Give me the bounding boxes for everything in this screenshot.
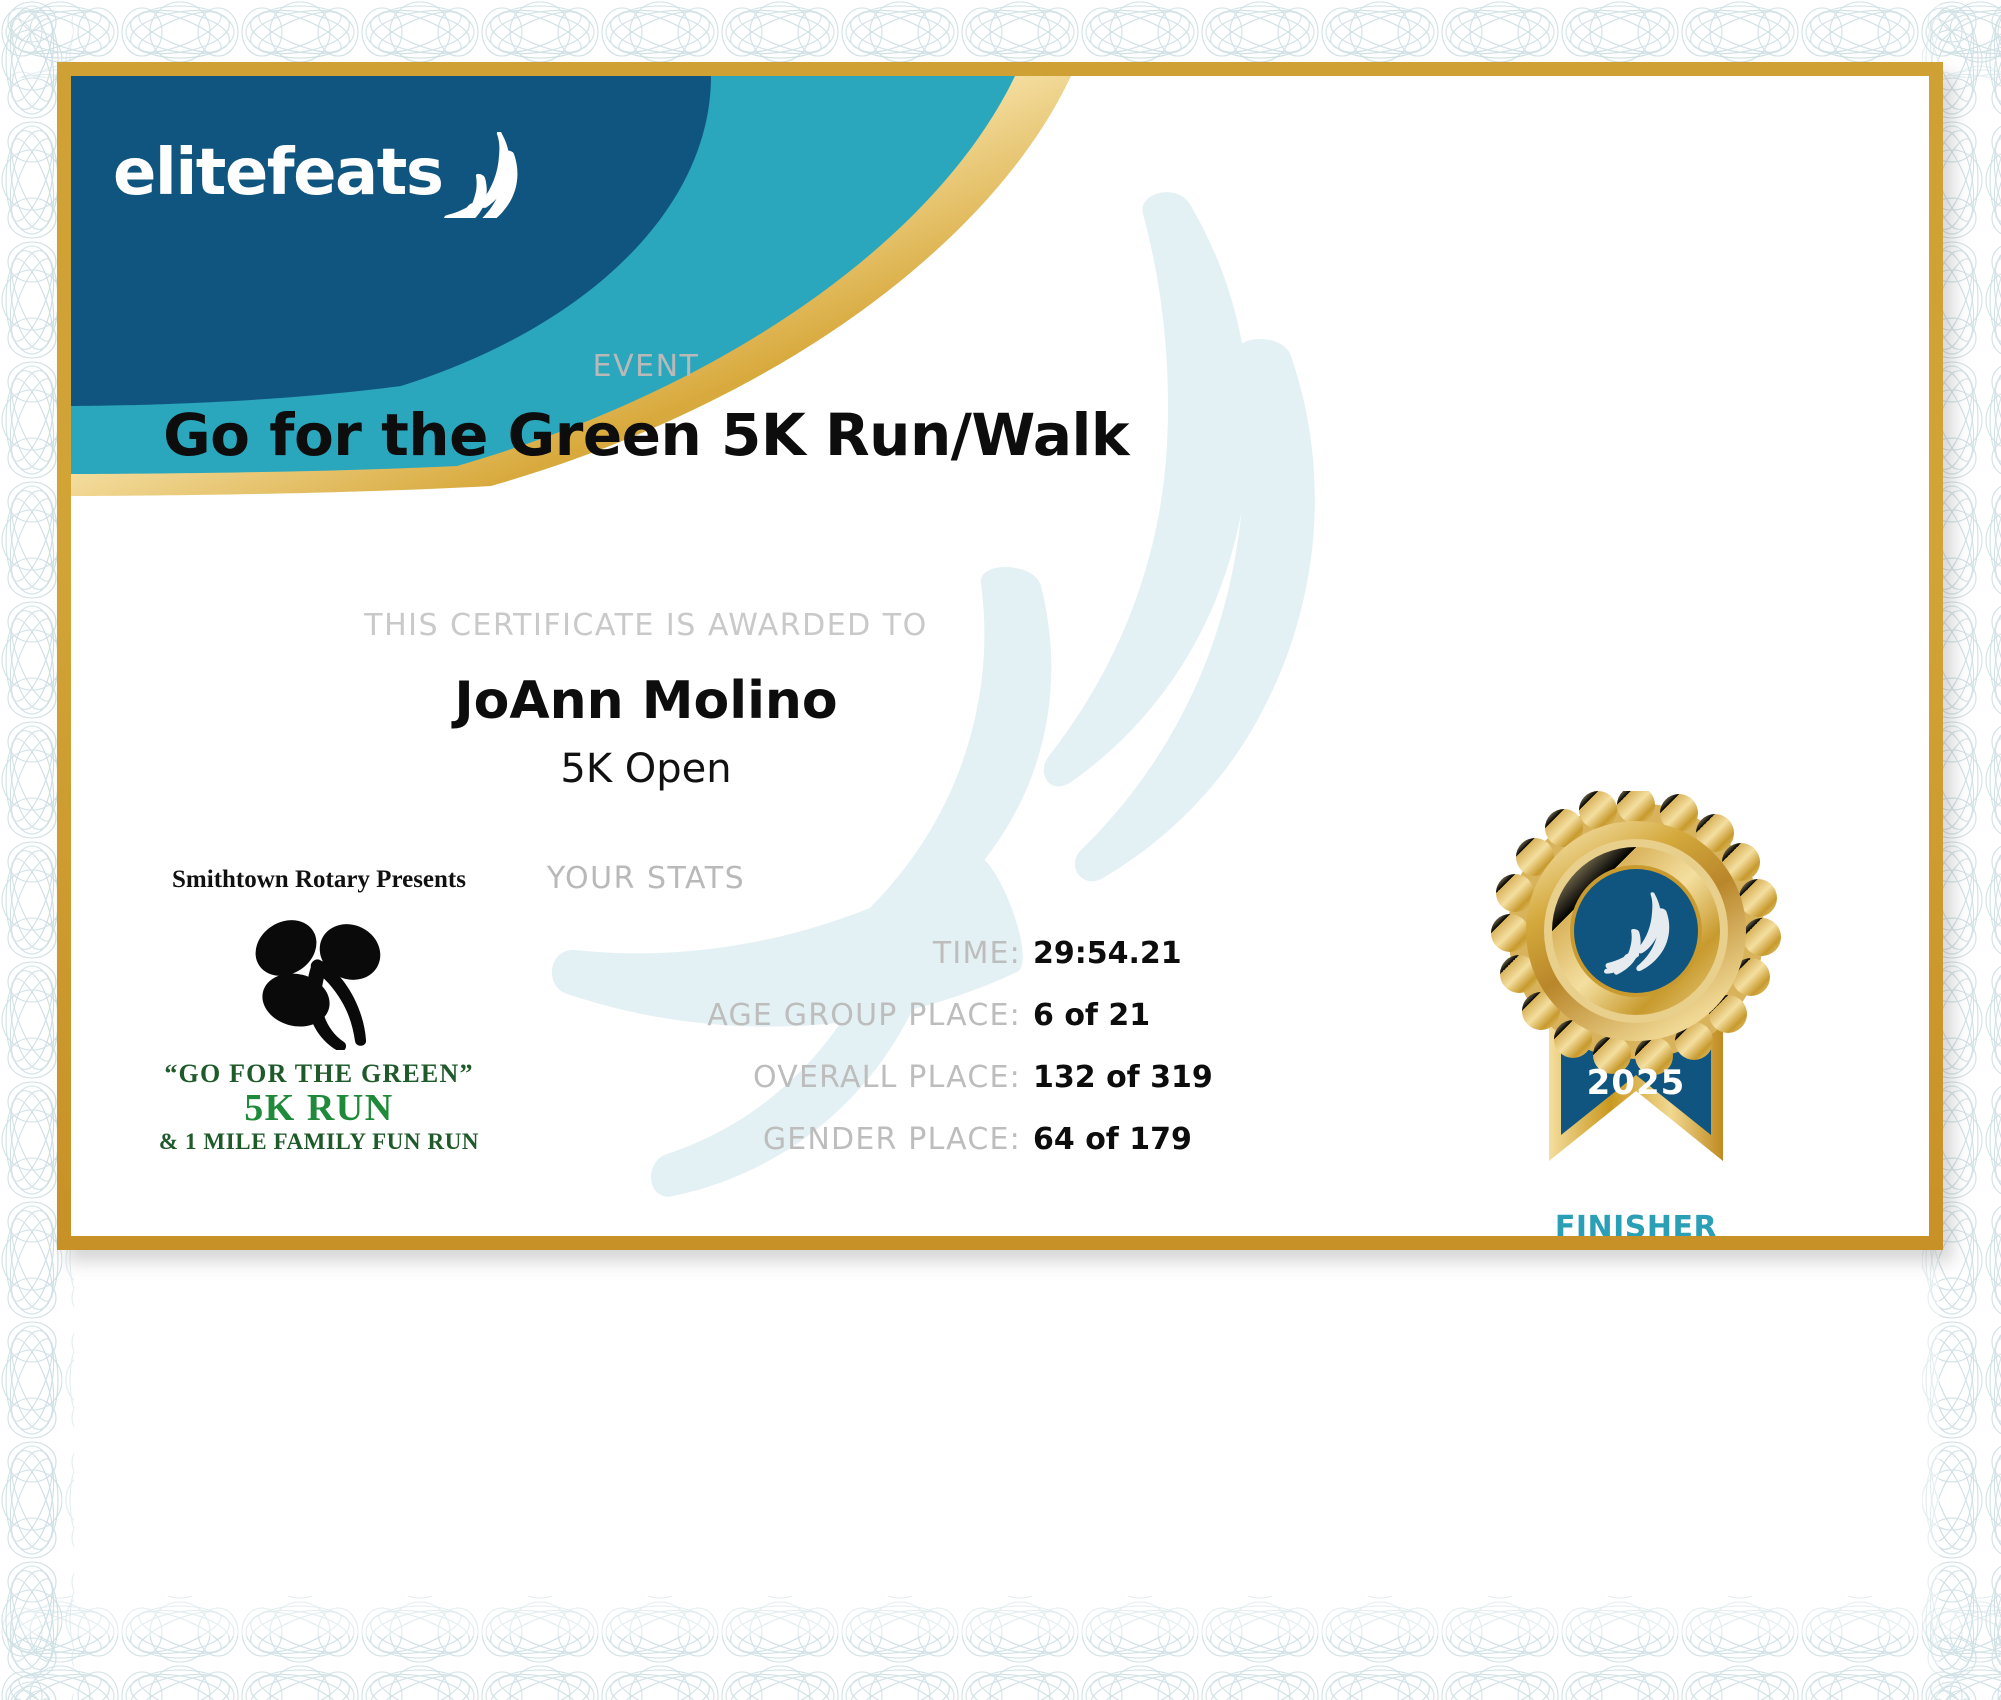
event-logo: Smithtown Rotary Presents “GO FOR THE GR… xyxy=(149,866,489,1155)
finisher-medal: 2025 FINISHER CERTIFICATE xyxy=(1471,791,1801,1206)
recipient-division: 5K Open xyxy=(71,746,1221,792)
stat-row-age-group-place: AGE GROUP PLACE: 6 of 21 xyxy=(401,998,1121,1060)
event-logo-line1: “GO FOR THE GREEN” xyxy=(149,1059,489,1089)
stat-label-age-group-place: AGE GROUP PLACE: xyxy=(401,998,1021,1033)
certificate-page: elitefeats EVENT Go for the Green 5K Run… xyxy=(0,0,2001,1700)
stat-label-overall-place: OVERALL PLACE: xyxy=(401,1060,1021,1095)
stat-value-time: 29:54.21 xyxy=(1021,936,1182,971)
medal-graphic xyxy=(1471,791,1801,1201)
event-logo-line3: & 1 MILE FAMILY FUN RUN xyxy=(149,1129,489,1155)
stat-row-gender-place: GENDER PLACE: 64 of 179 xyxy=(401,1122,1121,1184)
medal-caption: FINISHER CERTIFICATE xyxy=(1471,1211,1801,1236)
stat-row-time: TIME: 29:54.21 xyxy=(401,936,1121,998)
medal-year: 2025 xyxy=(1471,1063,1801,1103)
recipient-name: JoAnn Molino xyxy=(71,671,1221,731)
awarded-to-label: THIS CERTIFICATE IS AWARDED TO xyxy=(71,608,1221,643)
certificate-frame: elitefeats EVENT Go for the Green 5K Run… xyxy=(57,62,1943,1250)
stat-label-gender-place: GENDER PLACE: xyxy=(401,1122,1021,1157)
stats-table: TIME: 29:54.21 AGE GROUP PLACE: 6 of 21 … xyxy=(401,936,1121,1184)
medal-caption-line1: FINISHER xyxy=(1471,1211,1801,1236)
stat-value-overall-place: 132 of 319 xyxy=(1021,1060,1213,1095)
stat-row-overall-place: OVERALL PLACE: 132 of 319 xyxy=(401,1060,1121,1122)
certificate-body: elitefeats EVENT Go for the Green 5K Run… xyxy=(71,76,1929,1236)
event-logo-line2: 5K RUN xyxy=(149,1089,489,1129)
event-label: EVENT xyxy=(71,349,1221,384)
event-title: Go for the Green 5K Run/Walk xyxy=(71,401,1221,469)
stat-label-time: TIME: xyxy=(401,936,1021,971)
stat-value-gender-place: 64 of 179 xyxy=(1021,1122,1192,1157)
stat-value-age-group-place: 6 of 21 xyxy=(1021,998,1150,1033)
certificate-content: EVENT Go for the Green 5K Run/Walk THIS … xyxy=(71,76,1929,1236)
event-logo-presents: Smithtown Rotary Presents xyxy=(149,866,489,894)
shamrock-icon xyxy=(224,900,414,1050)
